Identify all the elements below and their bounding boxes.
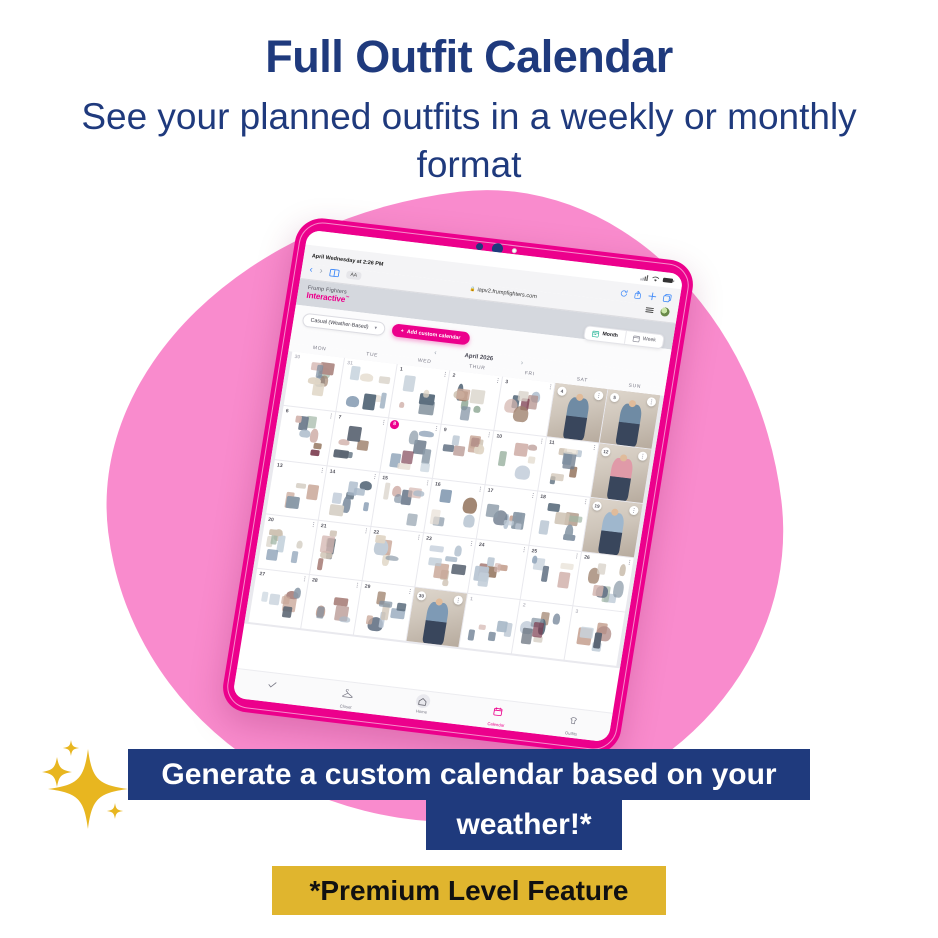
outfit-flatlay <box>568 614 621 663</box>
garment-thumbnail <box>418 400 434 416</box>
garment-thumbnail <box>557 572 571 589</box>
calendar-day-cell[interactable]: 18 <box>530 491 590 550</box>
premium-feature-note: *Premium Level Feature <box>272 866 666 915</box>
day-overflow-menu-icon[interactable] <box>321 468 323 473</box>
calendar-day-cell[interactable]: 1 <box>459 594 519 653</box>
garment-thumbnail <box>379 392 387 409</box>
garment-thumbnail <box>420 463 430 473</box>
garment-thumbnail <box>265 549 278 561</box>
calendar-day-cell[interactable]: 5 <box>600 389 660 448</box>
view-toggle-month-label: Month <box>602 332 618 340</box>
outfit-flatlay <box>305 582 358 631</box>
garment-thumbnail <box>454 545 463 557</box>
hamburger-menu-icon[interactable] <box>645 307 654 314</box>
tablet-device: April Wednesday at 2:26 PM ‹ › <box>219 216 696 757</box>
garment-thumbnail <box>597 563 606 574</box>
garment-thumbnail <box>442 579 449 586</box>
garment-thumbnail <box>406 513 417 526</box>
wifi-icon <box>651 275 660 282</box>
sparkle-icon-small <box>42 757 72 787</box>
calendar-day-cell[interactable]: 25 <box>521 546 581 605</box>
outfit-flatlay <box>357 588 410 637</box>
day-overflow-menu-icon[interactable] <box>488 432 490 437</box>
garment-thumbnail <box>329 504 345 517</box>
calendar-day-cell[interactable]: 2 <box>442 370 502 429</box>
garment-thumbnail <box>487 631 495 641</box>
day-number: 27 <box>259 571 265 578</box>
day-number: 28 <box>312 577 318 584</box>
garment-thumbnail <box>442 444 454 452</box>
outfit-flatlay <box>278 413 331 462</box>
day-overflow-menu-icon[interactable] <box>532 493 534 498</box>
prev-month-button[interactable]: ‹ <box>434 349 437 356</box>
day-overflow-menu-icon[interactable] <box>418 535 420 540</box>
calendar-day-cell[interactable]: 14 <box>319 466 379 525</box>
garment-thumbnail <box>360 373 374 382</box>
day-overflow-menu-icon[interactable] <box>470 541 472 546</box>
garment-thumbnail <box>383 483 391 500</box>
outfit-flatlay <box>533 499 586 548</box>
garment-thumbnail <box>393 493 402 503</box>
garment-thumbnail <box>316 606 325 619</box>
day-number: 23 <box>426 536 432 543</box>
calendar-day-cell[interactable]: 30 <box>284 351 344 410</box>
garment-thumbnail <box>439 489 452 503</box>
bottom-nav-label: Outfits <box>565 730 578 736</box>
view-toggle-week[interactable]: Week <box>624 331 664 348</box>
day-overflow-menu-icon[interactable] <box>550 384 552 389</box>
outfit-flatlay <box>577 559 630 608</box>
chevron-left-icon[interactable]: ‹ <box>309 265 313 274</box>
garment-thumbnail <box>429 545 444 552</box>
plus-icon[interactable] <box>647 291 657 301</box>
day-number: 18 <box>540 494 546 501</box>
reload-icon[interactable] <box>619 289 628 298</box>
outfit-flatlay <box>261 522 314 571</box>
garment-thumbnail <box>339 616 351 623</box>
calendar-day-cell[interactable]: 3 <box>565 606 625 665</box>
garment-thumbnail <box>487 558 495 567</box>
calendar-day-cell[interactable]: 15 <box>372 473 432 532</box>
garment-thumbnail <box>401 450 414 464</box>
page-title: Full Outfit Calendar <box>0 34 938 79</box>
garment-thumbnail <box>460 405 471 421</box>
calendar-day-cell[interactable]: 30 <box>407 587 467 646</box>
calendar-day-cell[interactable]: 22 <box>363 527 423 586</box>
day-number: 25 <box>531 548 537 555</box>
outfit-flatlay <box>322 474 375 523</box>
garment-thumbnail <box>362 393 376 410</box>
calendar-day-cell[interactable]: 29 <box>354 581 414 640</box>
sparkle-icon-tiny <box>63 740 79 756</box>
bottom-nav-label: Closet <box>339 703 352 709</box>
day-overflow-menu-icon[interactable] <box>444 372 446 377</box>
day-number: 26 <box>584 554 590 561</box>
outfit-flatlay <box>384 426 437 475</box>
garment-thumbnail <box>528 456 536 464</box>
day-number: 13 <box>276 462 282 469</box>
outfit-flatlay <box>252 576 305 625</box>
calendar-day-cell[interactable]: 10 <box>486 431 546 490</box>
calendar-day-cell[interactable]: 7 <box>328 412 388 471</box>
garment-thumbnail <box>514 465 531 480</box>
calendar-grid: 3031123456789101112131415161718192021222… <box>244 351 664 668</box>
day-overflow-menu-icon[interactable] <box>585 499 587 504</box>
calendar-day-cell[interactable]: 23 <box>415 533 475 592</box>
outfits-icon <box>567 712 579 731</box>
garment-thumbnail <box>477 572 490 587</box>
calendar-day-cell[interactable]: 20 <box>257 514 317 573</box>
day-number: 21 <box>320 523 326 530</box>
garment-thumbnail <box>403 375 416 392</box>
garment-thumbnail <box>285 495 300 509</box>
day-overflow-menu-icon[interactable] <box>593 445 595 450</box>
garment-thumbnail <box>412 490 425 497</box>
garment-thumbnail <box>456 388 470 400</box>
calendar-day-cell[interactable]: 17 <box>477 485 537 544</box>
calendar-day-cell[interactable]: 2 <box>512 600 572 659</box>
add-custom-calendar-button[interactable]: + Add custom calendar <box>391 324 471 346</box>
garment-thumbnail <box>560 562 574 570</box>
calendar-day-cell[interactable]: 9 <box>433 425 493 484</box>
garment-thumbnail <box>306 484 320 501</box>
garment-thumbnail <box>421 449 431 464</box>
calendar-day-cell[interactable]: 1 <box>389 364 449 423</box>
outfit-flatlay <box>428 486 481 535</box>
garment-thumbnail <box>399 401 405 408</box>
battery-icon <box>662 277 675 284</box>
garment-thumbnail <box>295 540 302 549</box>
checkmark-icon <box>267 676 279 695</box>
outfit-flatlay <box>366 534 419 583</box>
lock-icon: 🔒 <box>469 286 476 293</box>
trademark-symbol: ™ <box>345 295 350 300</box>
bottom-nav-item-check[interactable] <box>233 672 311 700</box>
day-overflow-menu-icon[interactable] <box>409 589 411 594</box>
garment-thumbnail <box>396 603 407 612</box>
calendar-day-cell[interactable]: 16 <box>424 479 484 538</box>
add-custom-calendar-label: Add custom calendar <box>406 329 461 341</box>
outfit-flatlay <box>542 444 595 493</box>
garment-thumbnail <box>310 449 320 457</box>
outfit-flatlay <box>393 371 446 420</box>
garment-thumbnail <box>317 558 324 570</box>
next-month-button[interactable]: › <box>520 360 523 367</box>
garment-thumbnail <box>532 622 545 638</box>
day-overflow-menu-icon[interactable] <box>541 439 543 444</box>
view-toggle-month[interactable]: Month <box>584 326 625 344</box>
garment-thumbnail <box>346 425 362 441</box>
tablet-screen: April Wednesday at 2:26 PM ‹ › <box>232 230 683 743</box>
garment-thumbnail <box>462 497 479 515</box>
day-overflow-menu-icon[interactable] <box>427 480 429 485</box>
garment-thumbnail <box>462 514 476 528</box>
calendar-day-cell[interactable]: 28 <box>301 575 361 634</box>
garment-thumbnail <box>419 431 435 438</box>
outfit-flatlay <box>270 467 323 516</box>
garment-thumbnail <box>619 564 627 576</box>
day-number: 31 <box>347 360 353 367</box>
chevron-right-icon[interactable]: › <box>319 266 323 275</box>
garment-thumbnail <box>281 596 290 604</box>
garment-thumbnail <box>514 442 529 457</box>
calendar-day-cell[interactable]: 31 <box>336 358 396 417</box>
calendar-day-cell[interactable]: 3 <box>494 377 554 436</box>
garment-thumbnail <box>453 445 466 456</box>
outfit-flatlay <box>436 432 489 481</box>
outfit-flatlay <box>498 384 551 433</box>
day-number: 22 <box>373 529 379 536</box>
page-subtitle: See your planned outfits in a weekly or … <box>0 93 938 189</box>
calendar-icon <box>492 703 504 722</box>
view-toggle-week-label: Week <box>642 336 656 343</box>
garment-thumbnail <box>473 406 481 414</box>
day-number: 29 <box>364 584 370 591</box>
sparkle-icon <box>48 749 128 829</box>
garment-thumbnail <box>470 389 486 405</box>
garment-thumbnail <box>554 512 570 526</box>
garment-thumbnail <box>494 563 501 573</box>
garment-thumbnail <box>467 629 475 641</box>
calendar-select-value: Casual (Weather-Based) <box>310 317 369 330</box>
day-number: 14 <box>329 469 335 476</box>
garment-thumbnail <box>592 584 604 597</box>
calendar-day-cell[interactable]: 11 <box>538 437 598 496</box>
promo-banner-line2: weather!* <box>426 800 622 850</box>
garment-thumbnail <box>445 556 458 563</box>
garment-thumbnail <box>552 613 560 625</box>
plus-icon: + <box>400 328 404 334</box>
garment-thumbnail <box>397 463 411 471</box>
calendar-month-icon <box>592 330 600 338</box>
share-icon[interactable] <box>633 290 642 300</box>
calendar-day-cell[interactable]: 8 <box>380 418 440 477</box>
day-overflow-menu-icon[interactable] <box>576 553 578 558</box>
garment-thumbnail <box>528 444 538 450</box>
avatar[interactable] <box>660 307 670 317</box>
calendar-day-cell[interactable]: 21 <box>310 521 370 580</box>
outfit-flatlay <box>480 492 533 541</box>
garment-thumbnail <box>547 502 561 512</box>
garment-thumbnail <box>450 563 466 575</box>
chevron-down-icon: ▾ <box>374 325 377 331</box>
text-size-button[interactable]: AA <box>346 270 362 280</box>
day-overflow-menu-icon[interactable] <box>435 426 437 431</box>
garment-thumbnail <box>362 502 369 511</box>
outfit-flatlay <box>331 419 384 468</box>
garment-thumbnail <box>291 551 299 563</box>
outfit-flatlay <box>419 540 472 589</box>
garment-thumbnail <box>429 557 443 566</box>
garment-thumbnail <box>295 483 306 489</box>
day-overflow-menu-icon[interactable] <box>628 560 630 565</box>
garment-thumbnail <box>485 503 499 518</box>
outfit-flatlay <box>524 553 577 602</box>
sensor-dot-icon <box>511 248 517 254</box>
calendar-day-cell[interactable]: 26 <box>573 552 633 611</box>
garment-thumbnail <box>320 536 335 554</box>
day-number: 20 <box>268 517 274 524</box>
garment-thumbnail <box>478 624 486 630</box>
outfit-flatlay <box>445 378 498 427</box>
calendar-day-cell[interactable]: 19 <box>582 498 642 557</box>
day-overflow-menu-icon[interactable] <box>304 576 306 581</box>
day-overflow-menu-icon[interactable] <box>479 487 481 492</box>
garment-thumbnail <box>498 451 508 467</box>
outfit-flatlay <box>472 547 525 596</box>
day-number: 10 <box>496 433 502 440</box>
garment-thumbnail <box>375 535 386 544</box>
calendar-day-cell[interactable]: 6 <box>275 406 335 465</box>
hanger-icon <box>341 685 355 704</box>
garment-thumbnail <box>378 376 390 384</box>
garment-thumbnail <box>580 627 595 639</box>
tabs-icon[interactable] <box>662 293 672 303</box>
garment-thumbnail <box>539 520 550 534</box>
day-overflow-menu-icon[interactable] <box>383 420 385 425</box>
book-sidebar-icon[interactable] <box>329 268 340 277</box>
day-number: 17 <box>487 488 493 495</box>
garment-thumbnail <box>331 492 342 504</box>
day-overflow-menu-icon[interactable] <box>374 474 376 479</box>
home-icon <box>415 693 431 708</box>
garment-thumbnail <box>503 519 514 525</box>
calendar-day-cell[interactable]: 4 <box>547 383 607 442</box>
day-number: 24 <box>478 542 484 549</box>
calendar-day-cell[interactable]: 24 <box>468 539 528 598</box>
outfit-flatlay <box>489 438 542 487</box>
bottom-nav-item-home[interactable]: Home <box>383 690 461 719</box>
bottom-nav-label: Home <box>415 708 427 714</box>
day-overflow-menu-icon[interactable] <box>497 378 499 383</box>
garment-thumbnail <box>293 587 302 598</box>
garment-thumbnail <box>333 449 349 459</box>
garment-thumbnail <box>309 428 320 443</box>
garment-thumbnail <box>612 581 625 598</box>
garment-thumbnail <box>313 442 321 449</box>
day-number: 30 <box>294 354 300 361</box>
day-overflow-menu-icon[interactable] <box>356 583 358 588</box>
garment-thumbnail <box>299 429 312 438</box>
outfit-flatlay <box>340 365 393 414</box>
sparkle-icon-tiny-2 <box>107 803 123 819</box>
headline-block: Full Outfit Calendar See your planned ou… <box>0 34 938 189</box>
promo-banner-line1: Generate a custom calendar based on your <box>128 749 810 800</box>
day-overflow-menu-icon[interactable] <box>523 547 525 552</box>
outfit-flatlay <box>287 359 340 408</box>
outfit-flatlay <box>463 601 516 650</box>
outfit-flatlay <box>313 528 366 577</box>
garment-thumbnail <box>379 601 393 608</box>
cellular-signal-icon <box>640 274 649 281</box>
garment-thumbnail <box>268 593 280 605</box>
garment-thumbnail <box>261 592 269 603</box>
day-number: 15 <box>382 475 388 482</box>
garment-thumbnail <box>345 396 359 408</box>
garment-thumbnail <box>282 606 293 618</box>
bottom-nav-label: Calendar <box>487 721 505 728</box>
outfit-flatlay <box>515 607 568 656</box>
garment-thumbnail <box>517 390 528 402</box>
calendar-day-cell[interactable]: 27 <box>249 569 309 628</box>
garment-thumbnail <box>550 473 564 481</box>
day-overflow-menu-icon[interactable] <box>330 413 332 418</box>
day-overflow-menu-icon[interactable] <box>365 528 367 533</box>
calendar-day-cell[interactable]: 12 <box>591 443 651 502</box>
day-overflow-menu-icon[interactable] <box>312 522 314 527</box>
day-number: 16 <box>435 481 441 488</box>
outfit-flatlay <box>375 480 428 529</box>
day-number: 11 <box>549 440 555 447</box>
month-label: April 2026 <box>464 353 493 362</box>
calendar-week-icon <box>632 335 640 343</box>
calendar-day-cell[interactable]: 13 <box>266 460 326 519</box>
